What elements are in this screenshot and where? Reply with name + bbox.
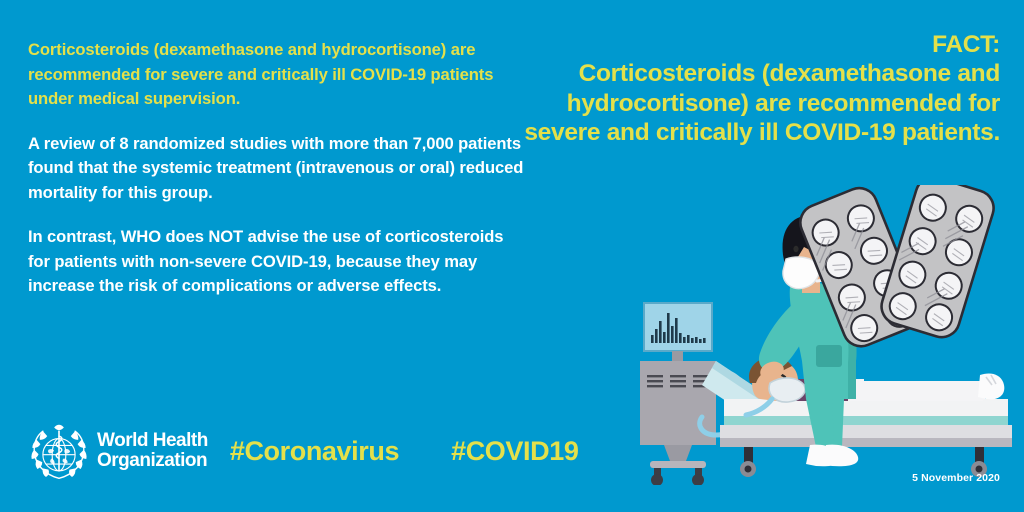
footer: World Health Organization #Coronavirus #… <box>28 420 578 482</box>
who-emblem-icon <box>28 420 90 482</box>
who-wordmark-line1: World Health <box>97 431 208 451</box>
hashtag-group: #Coronavirus #COVID19 <box>230 436 579 467</box>
hashtag-covid19[interactable]: #COVID19 <box>451 436 578 467</box>
who-logo: World Health Organization <box>28 420 208 482</box>
fact-headline: FACT:Corticosteroids (dexamethasone and … <box>510 30 1000 148</box>
body-copy: Corticosteroids (dexamethasone and hydro… <box>28 38 528 299</box>
paragraph-3: In contrast, WHO does NOT advise the use… <box>28 225 528 299</box>
paragraph-1: Corticosteroids (dexamethasone and hydro… <box>28 38 528 112</box>
illustration-hospital-scene <box>620 185 1024 485</box>
ventilator-monitor-icon <box>640 303 716 485</box>
paragraph-2: A review of 8 randomized studies with mo… <box>28 132 528 206</box>
who-wordmark-line2: Organization <box>97 451 208 471</box>
who-wordmark: World Health Organization <box>97 431 208 471</box>
infographic-canvas: Corticosteroids (dexamethasone and hydro… <box>0 0 1024 512</box>
hashtag-coronavirus[interactable]: #Coronavirus <box>230 436 399 467</box>
date-stamp: 5 November 2020 <box>912 472 1000 484</box>
